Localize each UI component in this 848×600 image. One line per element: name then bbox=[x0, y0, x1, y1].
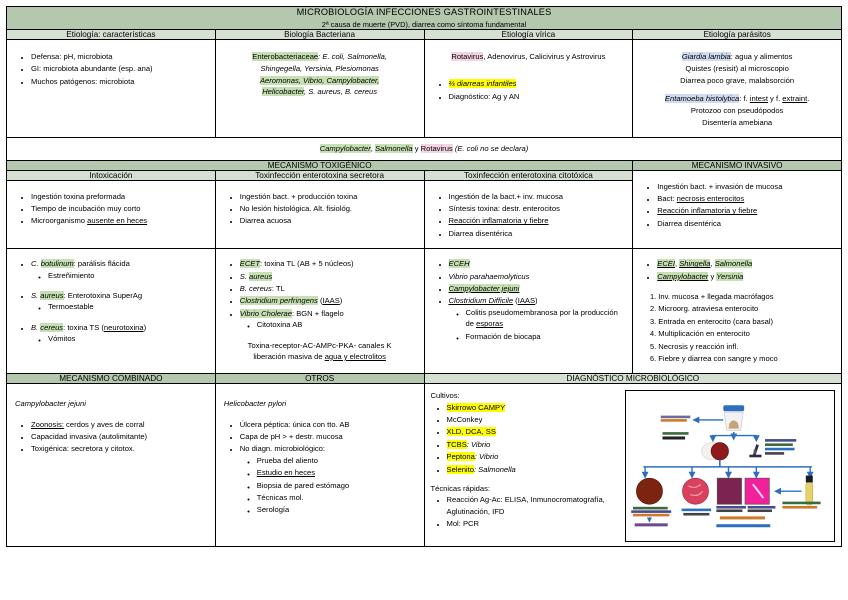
parasite-entamoeba: Entamoeba histolytica bbox=[665, 94, 739, 103]
list-citotoxica-bottom: ECEH Vibrio parahaemolyticus Campylobact… bbox=[433, 258, 625, 342]
list-item: Síntesis toxina: destr. enterocitos bbox=[449, 203, 625, 214]
list-item: S. aureus bbox=[240, 271, 416, 282]
list-item: Colitis pseudomembranosa por la producci… bbox=[466, 307, 625, 330]
list-item: Formación de biocapa bbox=[466, 331, 625, 342]
list-item: Reacción inflamatoria y fiebre bbox=[449, 215, 625, 226]
virica-bullet-0-text: ⅔ diarreas infantiles bbox=[449, 79, 517, 88]
declare-tail: (E. coli no se declara) bbox=[453, 144, 529, 153]
label-bar bbox=[782, 506, 817, 509]
iaas-tag-2: IAAS bbox=[518, 296, 535, 305]
label-bar bbox=[716, 506, 746, 509]
diagnostico-text-block: Cultivos: Skirrowo CAMPY McConkey XLD, D… bbox=[431, 390, 621, 542]
diagnostico-flow-figure bbox=[625, 390, 836, 542]
secretora-footer-2a: liberación masiva de bbox=[253, 352, 324, 361]
list-invasivo-agents: ECEI, Shingella, Salmonella Campylobacte… bbox=[641, 258, 833, 282]
taxon-helicobacter: Helicobacter bbox=[262, 87, 304, 96]
list-item: B. cereus: toxina TS (neurotoxina) Vómit… bbox=[31, 322, 207, 345]
list-item: Ingestión de la bact.+ inv. mucosa bbox=[449, 191, 625, 202]
list-item: Tiempo de incubación muy corto bbox=[31, 203, 207, 214]
mechanism-bottom-row: C. botulinum: parálisis flácida Estreñim… bbox=[7, 249, 842, 374]
list-item: Citotoxina AB bbox=[257, 319, 416, 330]
cell-invasivo-bottom: ECEI, Shingella, Salmonella Campylobacte… bbox=[633, 249, 842, 374]
secretora-footer-1: Toxina-receptor-AC-AMPc-PKA- canales K bbox=[248, 341, 392, 350]
list-item: McConkey bbox=[447, 414, 621, 425]
list-item: Capacidad invasiva (autolimitante) bbox=[31, 431, 207, 442]
entamoeba-e: . bbox=[807, 94, 809, 103]
list-item: B. cereus: TL bbox=[240, 283, 416, 294]
list-item: Diagnóstico: Ag y AN bbox=[449, 91, 625, 102]
header-diagnostico: DIAGNÓSTICO MICROBIOLÓGICO bbox=[424, 374, 842, 384]
label-bar bbox=[716, 510, 742, 513]
list-item: Vibrio Cholerae: BGN + flagelo Citotoxin… bbox=[240, 308, 416, 331]
medium-campy: CAMPY bbox=[478, 403, 505, 412]
cereus-rest-b: ) bbox=[144, 323, 147, 332]
agent-campylobacter: Campylobacter bbox=[657, 272, 708, 281]
iaas-tag: IAAS bbox=[322, 296, 339, 305]
list-item: Clostridium perfringens (IAAS) bbox=[240, 295, 416, 306]
entamoeba-d: extraint bbox=[782, 94, 807, 103]
list-item: Serología bbox=[257, 504, 416, 515]
agent-ecei: ECEI bbox=[657, 259, 675, 268]
header-mecanismo-toxigenico: MECANISMO TOXIGÉNICO bbox=[7, 160, 633, 170]
list-secretora-top: Ingestión bact. + producción toxina No l… bbox=[224, 191, 416, 227]
cell-declare-band: Campylobacter, Salmonella y Rotavirus (E… bbox=[7, 137, 842, 160]
list-tecnicas: Reacción Ag-Ac: ELISA, Inmunocromatograf… bbox=[431, 494, 621, 529]
plate-blood bbox=[682, 478, 708, 504]
list-invasivo-top: Ingestión bact. + invasión de mucosa Bac… bbox=[641, 181, 833, 230]
cell-caracteristicas: Defensa: pH, microbiota GI: microbiota a… bbox=[7, 40, 216, 138]
page-title: MICROBIOLOGÍA INFECCIONES GASTROINTESTIN… bbox=[7, 7, 841, 17]
genus-c: C. bbox=[31, 259, 41, 268]
header-etiologia-caracteristicas: Etiología: características bbox=[7, 30, 216, 40]
ecet-rest: : toxina TL (AB + 5 núcleos) bbox=[260, 259, 354, 268]
species-cereus: cereus bbox=[40, 323, 63, 332]
subheader-intoxicacion: Intoxicación bbox=[7, 170, 216, 180]
title-cell: MICROBIOLOGÍA INFECCIONES GASTROINTESTIN… bbox=[7, 7, 842, 30]
list-item: Multiplicación en enterocito bbox=[658, 328, 833, 339]
label-bar bbox=[681, 509, 711, 512]
label-bar bbox=[660, 419, 686, 422]
cell-bacteriana: Enterobacteriaceae: E. coli, Salmonella,… bbox=[215, 40, 424, 138]
list-item: Diarrea disentérica bbox=[449, 228, 625, 239]
list-item: Capa de pH > + destr. mucosa bbox=[240, 431, 416, 442]
selenite-tube-icon bbox=[805, 476, 812, 506]
label-bar bbox=[765, 452, 784, 455]
entamoeba-b: intest bbox=[750, 94, 768, 103]
list-citotoxica-top: Ingestión de la bact.+ inv. mucosa Sínte… bbox=[433, 191, 625, 240]
cell-combinado: Campylobacter jejuni Zoonosis: cerdos y … bbox=[7, 384, 216, 547]
entamoeba-line-1: Disentería amebiana bbox=[702, 118, 772, 127]
vibrio-rest: : BGN + flagelo bbox=[292, 309, 344, 318]
agent-vibrio-cholerae: Vibrio Cholerae bbox=[240, 309, 292, 318]
intoxicacion-ausente: ausente en heces bbox=[87, 216, 147, 225]
invasivo-reaccion: Reacción inflamatoria y fiebre bbox=[657, 206, 757, 215]
list-item: Técnicas mol. bbox=[257, 492, 416, 503]
cell-intoxicacion-top: Ingestión toxina preformada Tiempo de in… bbox=[7, 180, 216, 249]
cell-citotoxica-bottom: ECEH Vibrio parahaemolyticus Campylobact… bbox=[424, 249, 633, 374]
esporas-word: esporas bbox=[476, 319, 503, 328]
cell-invasivo-top: Ingestión bact. + invasión de mucosa Bac… bbox=[633, 170, 842, 249]
list-item: Skirrowo CAMPY bbox=[447, 402, 621, 413]
agent-b-cereus: B. cereus bbox=[240, 284, 272, 293]
estudio-heces: Estudio en heces bbox=[257, 468, 315, 477]
otros-bullet-2: No diagn. microbiológico: bbox=[240, 444, 325, 453]
cell-intoxicacion-bottom: C. botulinum: parálisis flácida Estreñim… bbox=[7, 249, 216, 374]
list-intoxicacion-top: Ingestión toxina preformada Tiempo de in… bbox=[15, 191, 207, 227]
etiology-header-row: Etiología: características Biología Bact… bbox=[7, 30, 842, 40]
list-item: Termoestable bbox=[48, 301, 207, 312]
label-bar bbox=[662, 437, 685, 440]
stool-container-icon bbox=[723, 405, 744, 430]
list-invasivo-steps: Inv. mucosa + llegada macrófagos Microor… bbox=[641, 291, 833, 364]
agent-clostridium-difficile: Clostridium Difficile bbox=[449, 296, 514, 305]
list-item: Ingestión bact. + invasión de mucosa bbox=[657, 181, 833, 192]
bottom-header-row: MECANISMO COMBINADO OTROS DIAGNÓSTICO MI… bbox=[7, 374, 842, 384]
secretora-footer-2u: agua y electrolitos bbox=[325, 352, 386, 361]
label-bar bbox=[782, 502, 820, 505]
list-item: Entrada en enterocito (cara basal) bbox=[658, 316, 833, 327]
cell-citotoxica-top: Ingestión de la bact.+ inv. mucosa Sínte… bbox=[424, 180, 633, 249]
combinado-title: Campylobacter jejuni bbox=[15, 398, 207, 409]
label-bar bbox=[719, 517, 764, 520]
list-combinado: Zoonosis: cerdos y aves de corral Capaci… bbox=[15, 419, 207, 455]
cell-secretora-top: Ingestión bact. + producción toxina No l… bbox=[215, 180, 424, 249]
bacteriana-line3: Aeromonas, Vibrio, Campylobacter, bbox=[260, 76, 379, 85]
list-item: Microorganismo ausente en heces bbox=[31, 215, 207, 226]
header-etiologia-virica: Etiología vírica bbox=[424, 30, 633, 40]
selenito-rest: : Salmonella bbox=[474, 465, 516, 474]
aureus-rest: : Enterotoxina SuperAg bbox=[64, 291, 143, 300]
agent-vibrio-para: Vibrio parahaemolyticus bbox=[449, 272, 530, 281]
list-item: Necrosis y reacción infl. bbox=[658, 341, 833, 352]
list-item: GI: microbiota abundante (esp. ana) bbox=[31, 63, 207, 74]
entamoeba-a: : f. bbox=[739, 94, 750, 103]
bacteriana-line4b: , S. aureus, B. cereus bbox=[304, 87, 377, 96]
page-subtitle: 2ª causa de muerte (PVD), diarrea como s… bbox=[7, 20, 841, 29]
genus-s: S. bbox=[31, 291, 40, 300]
list-item: Campylobacter y Yersinia bbox=[657, 271, 833, 282]
microscope-icon bbox=[749, 445, 761, 458]
entamoeba-line-0: Protozoo con pseudópodos bbox=[691, 106, 783, 115]
list-item: Úlcera péptica: única con tto. AB bbox=[240, 419, 416, 430]
cereus-rest-a: : toxina TS ( bbox=[63, 323, 104, 332]
cell-virica: Rotavirus, Adenovirus, Calicivirus y Ast… bbox=[424, 40, 633, 138]
etiology-content-row: Defensa: pH, microbiota GI: microbiota a… bbox=[7, 40, 842, 138]
peptona-rest: : Vibrio bbox=[475, 452, 499, 461]
label-bar bbox=[747, 510, 771, 513]
list-item: XLD, DCA, SS bbox=[447, 426, 621, 437]
zoonosis-label: Zoonosis: bbox=[31, 420, 64, 429]
list-item: Ingestión bact. + producción toxina bbox=[240, 191, 416, 202]
bacteriana-line1: : E. coli, Salmonella, bbox=[318, 52, 387, 61]
mechanism-header-row: MECANISMO TOXIGÉNICO MECANISMO INVASIVO bbox=[7, 160, 842, 170]
main-grid: MICROBIOLOGÍA INFECCIONES GASTROINTESTIN… bbox=[6, 6, 842, 547]
label-bar bbox=[634, 524, 667, 527]
list-item: ⅔ diarreas infantiles bbox=[449, 78, 625, 89]
medium-peptona: Peptona bbox=[447, 452, 475, 461]
list-item: Reacción inflamatoria y fiebre bbox=[657, 205, 833, 216]
header-biologia-bacteriana: Biología Bacteriana bbox=[215, 30, 424, 40]
sa-pre: S. bbox=[240, 272, 249, 281]
list-item: ECET: toxina TL (AB + 5 núcleos) bbox=[240, 258, 416, 269]
declare-rotavirus: Rotavirus bbox=[421, 144, 453, 153]
list-intoxicacion-bottom: C. botulinum: parálisis flácida Estreñim… bbox=[15, 258, 207, 344]
list-item: Bact: necrosis enterocitos bbox=[657, 193, 833, 204]
taxon-enterobacteriaceae: Enterobacteriaceae bbox=[252, 52, 318, 61]
species-aureus: aureus bbox=[40, 291, 63, 300]
list-item: Defensa: pH, microbiota bbox=[31, 51, 207, 62]
tecnicas-label: Técnicas rápidas: bbox=[431, 483, 621, 494]
list-item: Prueba del aliento bbox=[257, 455, 416, 466]
agent-clostridium-perfringens: Clostridium perfringens bbox=[240, 296, 318, 305]
declare-salmonella: Salmonella bbox=[375, 144, 413, 153]
list-item: C. botulinum: parálisis flácida Estreñim… bbox=[31, 258, 207, 281]
header-otros: OTROS bbox=[215, 374, 424, 384]
virica-rest: , Adenovirus, Calicivirus y Astrovirus bbox=[483, 52, 605, 61]
botulinum-rest: : parálisis flácida bbox=[74, 259, 130, 268]
cultivos-label: Cultivos: bbox=[431, 390, 621, 401]
label-bar bbox=[632, 514, 668, 517]
list-otros: Úlcera péptica: única con tto. AB Capa d… bbox=[224, 419, 416, 516]
list-item: Peptona: Vibrio bbox=[447, 451, 621, 462]
agent-eceh: ECEH bbox=[449, 259, 470, 268]
list-item: Zoonosis: cerdos y aves de corral bbox=[31, 419, 207, 430]
plate-xld bbox=[717, 478, 741, 504]
cell-parasitos: Giardia lambia: agua y alimentos Quistes… bbox=[633, 40, 842, 138]
mechanism-subheader-row: Intoxicación Toxinfección enterotoxina s… bbox=[7, 170, 842, 180]
list-item: Selenito: Salmonella bbox=[447, 464, 621, 475]
bottom-content-row: Campylobacter jejuni Zoonosis: cerdos y … bbox=[7, 384, 842, 547]
label-bar bbox=[662, 432, 688, 435]
title-row: MICROBIOLOGÍA INFECCIONES GASTROINTESTIN… bbox=[7, 7, 842, 30]
label-bar bbox=[747, 506, 775, 509]
giardia-line-2: Diarrea poco grave, malabsorción bbox=[680, 76, 794, 85]
list-item: ECEI, Shingella, Salmonella bbox=[657, 258, 833, 269]
medium-selenito: Selenito bbox=[447, 465, 474, 474]
list-item: Diarrea acuosa bbox=[240, 215, 416, 226]
plate-mcconkey bbox=[636, 478, 662, 504]
agent-campylobacter-jejuni: Campylobacter jejuni bbox=[449, 284, 520, 293]
list-item: Fiebre y diarrea con sangre y moco bbox=[658, 353, 833, 364]
list-item: Vómitos bbox=[48, 333, 207, 344]
cereus-neurotoxina: neurotoxina bbox=[104, 323, 144, 332]
declare-band-row: Campylobacter, Salmonella y Rotavirus (E… bbox=[7, 137, 842, 160]
label-bar bbox=[683, 513, 709, 516]
list-item: ECEH bbox=[449, 258, 625, 269]
list-caracteristicas: Defensa: pH, microbiota GI: microbiota a… bbox=[15, 51, 207, 87]
microbiology-table-sheet: MICROBIOLOGÍA INFECCIONES GASTROINTESTIN… bbox=[0, 0, 848, 600]
cell-otros: Helicobacter pylori Úlcera péptica: únic… bbox=[215, 384, 424, 547]
bacteriana-line2: Shingegella, Yersinia, Plesiomonas bbox=[260, 64, 378, 73]
coprocultivo-flow-svg bbox=[626, 391, 835, 541]
giardia-line-0: : agua y alimentos bbox=[731, 52, 793, 61]
header-mecanismo-combinado: MECANISMO COMBINADO bbox=[7, 374, 216, 384]
list-item: Toxigénica: secretora y citotox. bbox=[31, 443, 207, 454]
list-virica: ⅔ diarreas infantiles Diagnóstico: Ag y … bbox=[433, 78, 625, 102]
header-mecanismo-invasivo: MECANISMO INVASIVO bbox=[633, 160, 842, 170]
list-item: TCBS: Vibrio bbox=[447, 439, 621, 450]
otros-title: Helicobacter pylori bbox=[224, 398, 416, 409]
parasite-giardia: Giardia lambia bbox=[682, 52, 731, 61]
subheader-secretora: Toxinfección enterotoxina secretora bbox=[215, 170, 424, 180]
list-item: Microorg. atraviesa enterocito bbox=[658, 303, 833, 314]
label-bar bbox=[765, 444, 793, 447]
agent-yersinia: Yersinia bbox=[716, 272, 743, 281]
entamoeba-c: y f. bbox=[768, 94, 782, 103]
cell-diagnostico: Cultivos: Skirrowo CAMPY McConkey XLD, D… bbox=[424, 384, 842, 547]
list-item: Muchos patógenos: microbiota bbox=[31, 76, 207, 87]
list-item: Inv. mucosa + llegada macrófagos bbox=[658, 291, 833, 302]
genus-b: B. bbox=[31, 323, 40, 332]
giardia-line-1: Quistes (resisit) al microscopio bbox=[685, 64, 788, 73]
list-secretora-bottom: ECET: toxina TL (AB + 5 núcleos) S. aure… bbox=[224, 258, 416, 330]
medium-xld-dca: XLD, DCA, bbox=[447, 427, 486, 436]
list-item: Mol: PCR bbox=[447, 518, 621, 529]
declare-sep2: y bbox=[413, 144, 421, 153]
list-item: Ingestión toxina preformada bbox=[31, 191, 207, 202]
list-item: Diarrea disentérica bbox=[657, 218, 833, 229]
list-item: Biopsia de pared estómago bbox=[257, 480, 416, 491]
medium-tcbs: TCBS bbox=[447, 440, 467, 449]
medium-skirrow: Skirrowo bbox=[447, 403, 479, 412]
cell-secretora-bottom: ECET: toxina TL (AB + 5 núcleos) S. aure… bbox=[215, 249, 424, 374]
list-item: No lesión histológica. Alt. fisiológ. bbox=[240, 203, 416, 214]
citotoxica-reaccion: Reacción inflamatoria y fiebre bbox=[449, 216, 549, 225]
subheader-citotoxica: Toxinfección enterotoxina citotóxica bbox=[424, 170, 633, 180]
label-bar bbox=[765, 448, 795, 451]
label-bar bbox=[765, 439, 796, 442]
declare-campylobacter: Campylobacter bbox=[320, 144, 371, 153]
b-cereus-rest: : TL bbox=[272, 284, 285, 293]
virus-rotavirus: Rotavirus bbox=[451, 52, 483, 61]
species-botulinum: botulinum bbox=[41, 259, 74, 268]
list-item: Clostridium Difficile (IAAS) Colitis pse… bbox=[449, 295, 625, 342]
list-item: Campylobacter jejuni bbox=[449, 283, 625, 294]
agar-plate-icon bbox=[701, 443, 728, 460]
medium-ss: SS bbox=[486, 427, 496, 436]
invasivo-necrosis: necrosis enterocitos bbox=[677, 194, 745, 203]
list-item: Vibrio parahaemolyticus bbox=[449, 271, 625, 282]
list-item: S. aureus: Enterotoxina SuperAg Termoest… bbox=[31, 290, 207, 313]
list-item: No diagn. microbiológico: Prueba del ali… bbox=[240, 443, 416, 515]
list-item: Reacción Ag-Ac: ELISA, Inmunocromatograf… bbox=[447, 494, 621, 517]
list-item: Estudio en heces bbox=[257, 467, 416, 478]
label-bar bbox=[631, 511, 671, 514]
label-bar bbox=[632, 507, 667, 510]
label-bar bbox=[716, 524, 770, 527]
label-bar bbox=[660, 416, 690, 419]
tcbs-rest: : Vibrio bbox=[467, 440, 491, 449]
list-cultivos: Skirrowo CAMPY McConkey XLD, DCA, SS TCB… bbox=[431, 402, 621, 475]
agent-s-aureus: aureus bbox=[249, 272, 272, 281]
agent-shingella: Shingella bbox=[679, 259, 710, 268]
list-item: Estreñimiento bbox=[48, 270, 207, 281]
agent-salmonella: Salmonella bbox=[715, 259, 753, 268]
agent-ecet: ECET bbox=[240, 259, 260, 268]
header-etiologia-parasitos: Etiología parásitos bbox=[633, 30, 842, 40]
